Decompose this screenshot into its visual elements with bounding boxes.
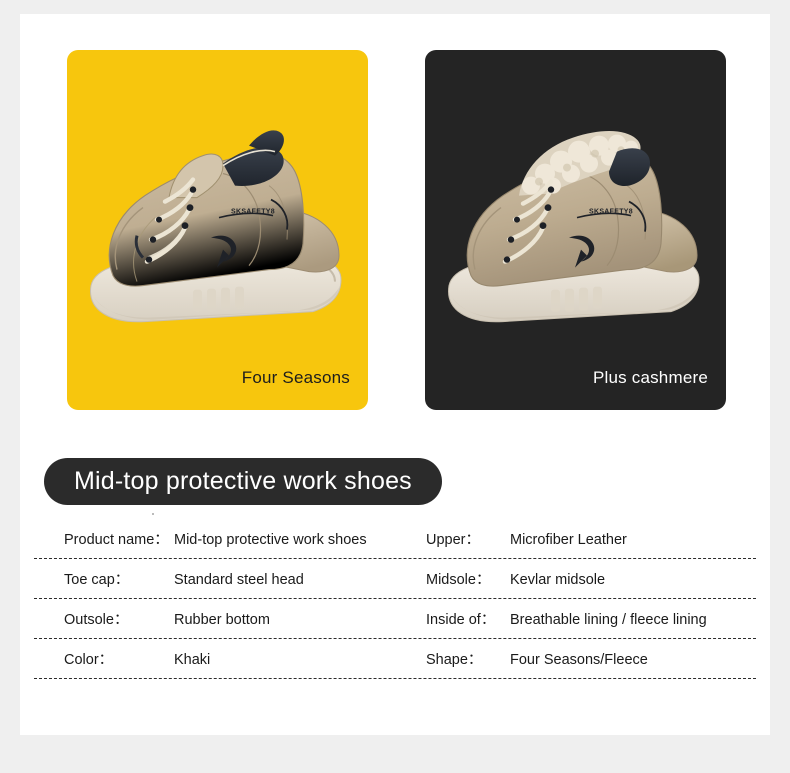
spec-label: Color： — [34, 648, 174, 669]
spec-cell-left: Outsole： Rubber bottom — [34, 608, 426, 629]
gallery-panel-four-seasons[interactable]: SKSAFETY8 Four Seasons — [67, 50, 368, 410]
spec-label: Inside of： — [426, 608, 504, 629]
product-detail-page: SKSAFETY8 Four Seasons — [0, 0, 790, 773]
spec-label: Midsole： — [426, 568, 504, 589]
table-row: Color： Khaki Shape： Four Seasons/Fleece — [34, 639, 756, 679]
shoe-image-four-seasons: SKSAFETY8 — [67, 50, 368, 410]
spec-value: Microfiber Leather — [504, 532, 627, 548]
spec-value: Rubber bottom — [174, 612, 270, 628]
stray-dot — [152, 513, 154, 515]
spec-value: Mid-top protective work shoes — [174, 532, 367, 548]
specification-table: Product name： Mid-top protective work sh… — [34, 519, 756, 679]
table-row: Product name： Mid-top protective work sh… — [34, 519, 756, 559]
spec-value: Kevlar midsole — [504, 572, 605, 588]
product-gallery: SKSAFETY8 Four Seasons — [20, 14, 770, 414]
product-card: SKSAFETY8 Four Seasons — [20, 14, 770, 735]
gallery-caption-right: Plus cashmere — [593, 368, 708, 388]
spec-label: Toe cap： — [34, 568, 174, 589]
spec-cell-left: Product name： Mid-top protective work sh… — [34, 528, 426, 549]
gallery-panel-plus-cashmere[interactable]: SKSAFETY8 Plus cashmere — [425, 50, 726, 410]
spec-value: Breathable lining / fleece lining — [504, 612, 707, 628]
spec-label: Shape： — [426, 648, 504, 669]
product-title-pill: Mid-top protective work shoes — [44, 458, 442, 505]
page-title: Mid-top protective work shoes — [74, 467, 412, 496]
spec-value: Khaki — [174, 652, 210, 668]
spec-cell-right: Shape： Four Seasons/Fleece — [426, 648, 756, 669]
spec-cell-right: Upper： Microfiber Leather — [426, 528, 756, 549]
spec-cell-right: Midsole： Kevlar midsole — [426, 568, 756, 589]
spec-cell-left: Toe cap： Standard steel head — [34, 568, 426, 589]
spec-cell-right: Inside of： Breathable lining / fleece li… — [426, 608, 756, 629]
shoe-image-plus-cashmere: SKSAFETY8 — [425, 50, 726, 410]
spec-cell-left: Color： Khaki — [34, 648, 426, 669]
spec-label: Upper： — [426, 528, 504, 549]
table-row: Toe cap： Standard steel head Midsole： Ke… — [34, 559, 756, 599]
spec-value: Standard steel head — [174, 572, 304, 588]
spec-label: Product name： — [34, 528, 174, 549]
spec-value: Four Seasons/Fleece — [504, 652, 648, 668]
gallery-caption-left: Four Seasons — [242, 368, 350, 388]
table-row: Outsole： Rubber bottom Inside of： Breath… — [34, 599, 756, 639]
spec-label: Outsole： — [34, 608, 174, 629]
